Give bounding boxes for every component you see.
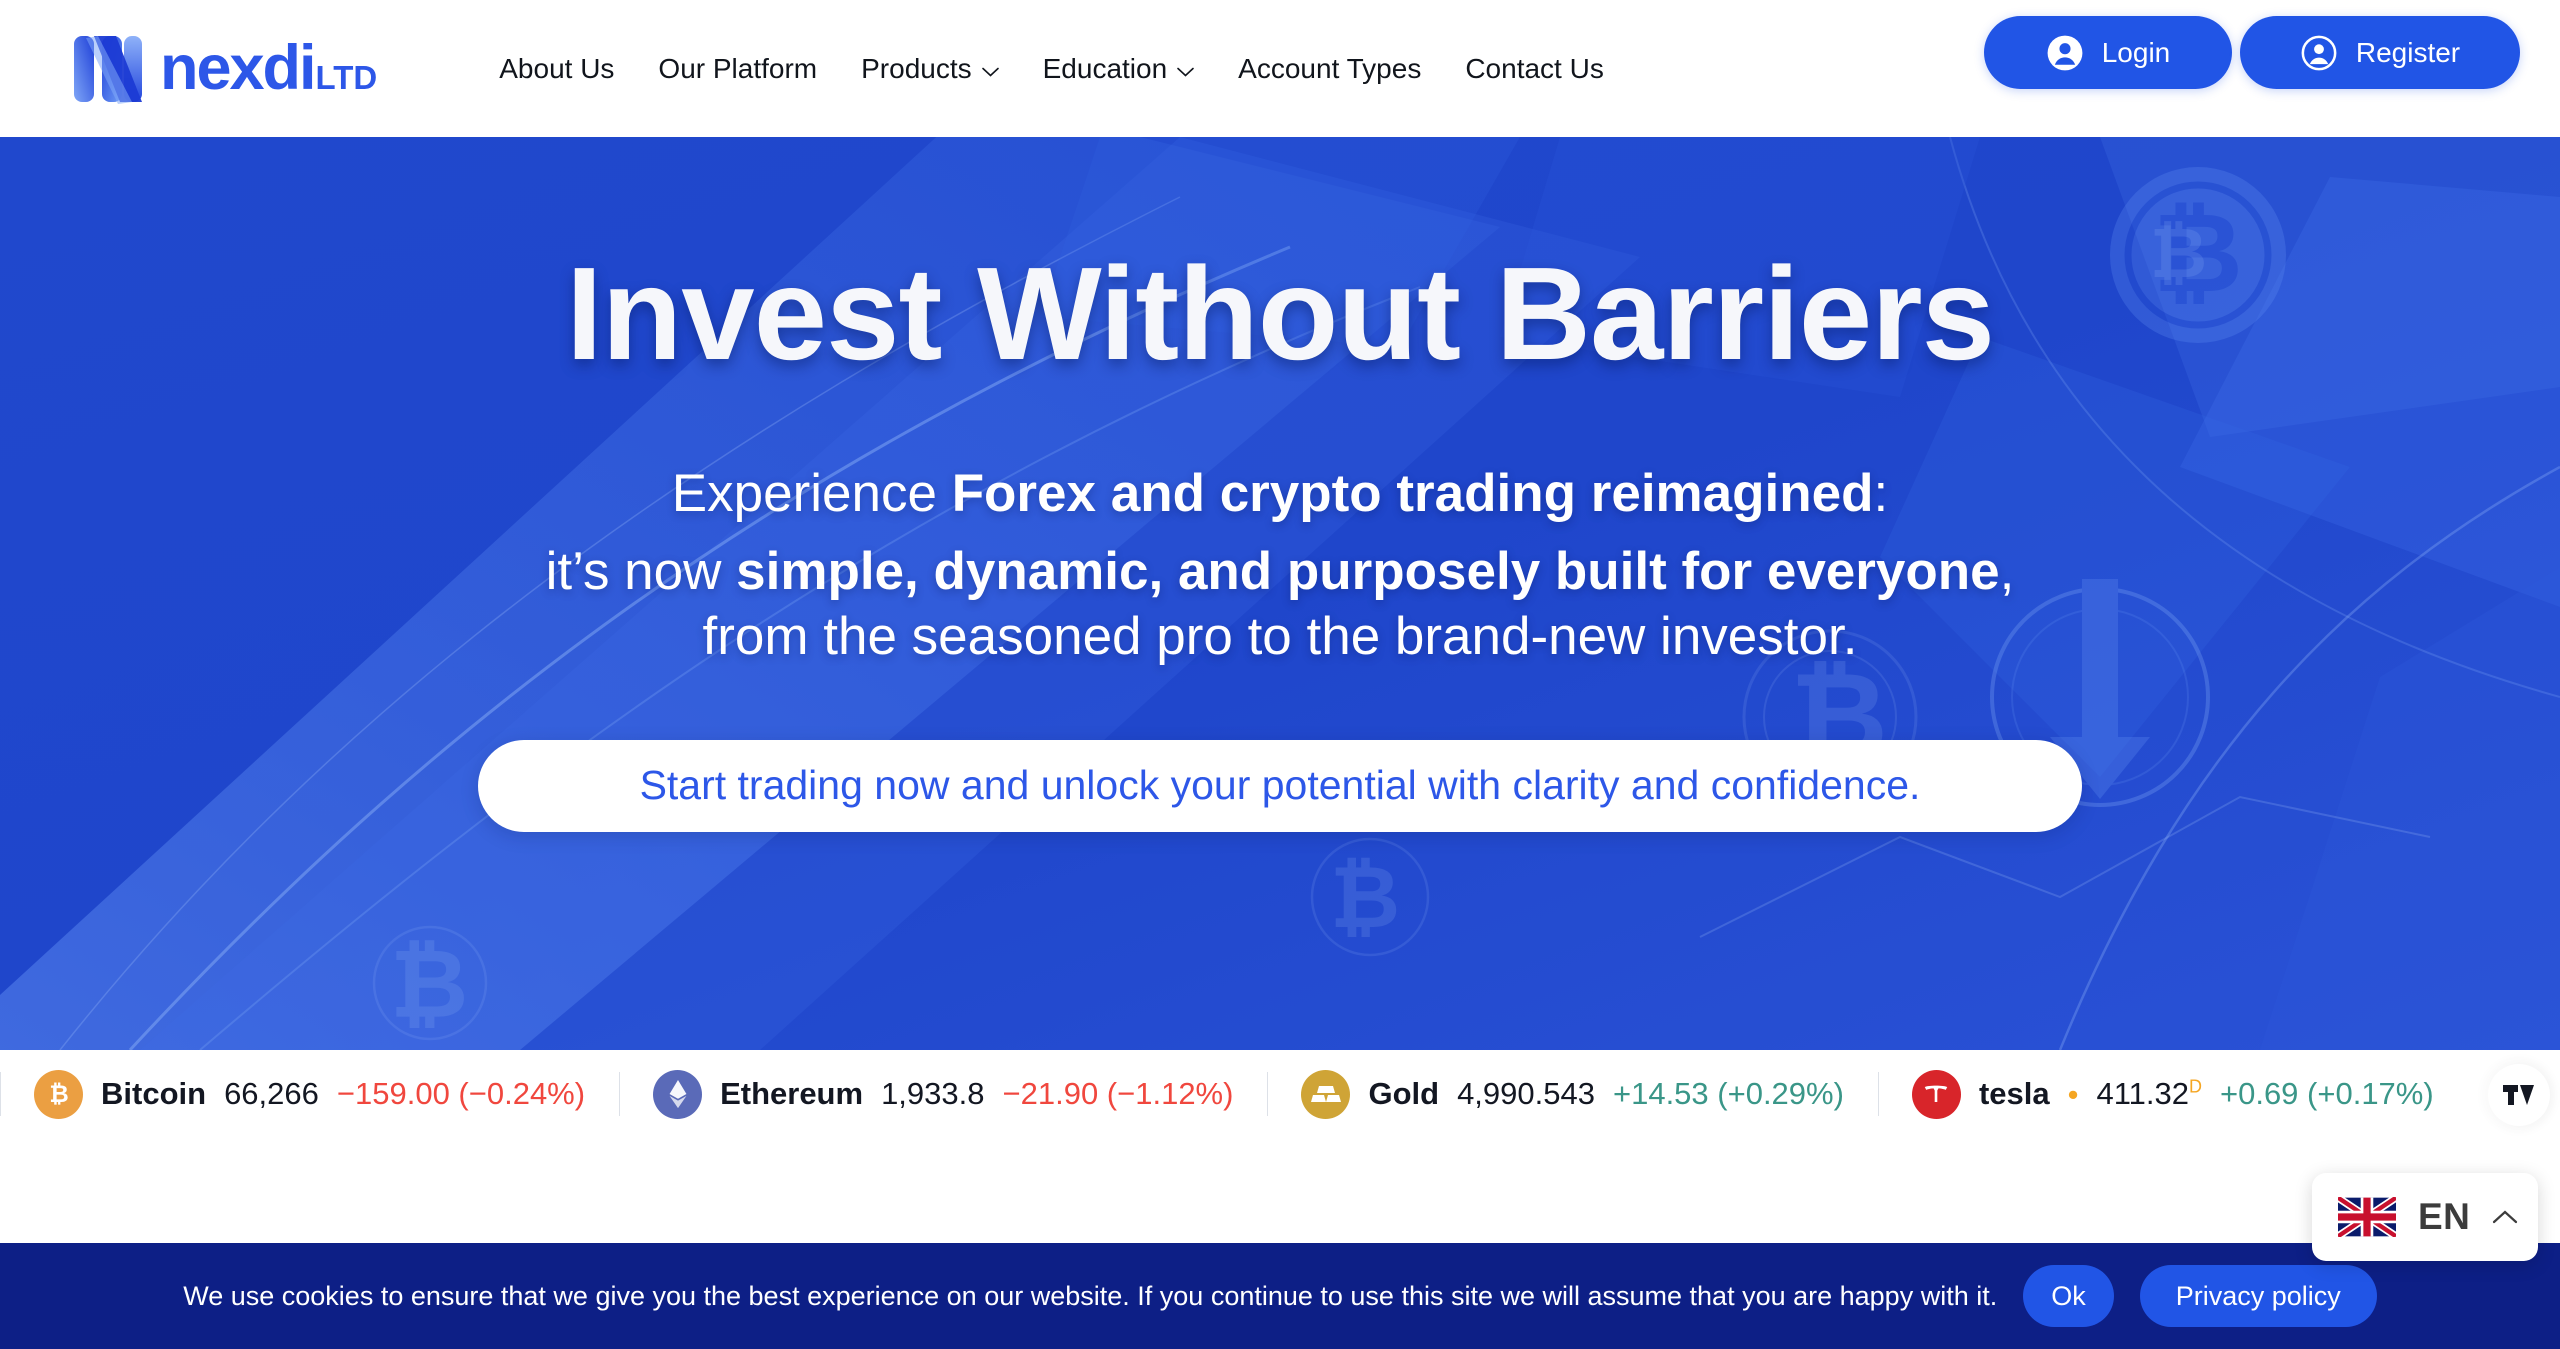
ticker-change: +14.53 (+0.29%) bbox=[1613, 1076, 1844, 1112]
site-header: nexdiLTD About Us Our Platform Products … bbox=[0, 0, 2560, 137]
nav-item-products[interactable]: Products bbox=[839, 53, 1021, 85]
hero-subtitle-line-1: Experience Forex and crypto trading reim… bbox=[672, 462, 1888, 527]
nav-item-account-types[interactable]: Account Types bbox=[1216, 53, 1443, 85]
ticker-item-bitcoin[interactable]: ₿ Bitcoin 66,266 −159.00 (−0.24%) bbox=[0, 1050, 619, 1138]
chevron-up-icon bbox=[2492, 1209, 2518, 1225]
start-trading-cta-button[interactable]: Start trading now and unlock your potent… bbox=[478, 740, 2082, 832]
hero-title: Invest Without Barriers bbox=[566, 245, 1994, 384]
bitcoin-icon: ₿ bbox=[34, 1070, 83, 1119]
hero-sub2-post: , bbox=[2000, 542, 2015, 601]
nav-label: Contact Us bbox=[1465, 53, 1604, 85]
nav-label: Account Types bbox=[1238, 53, 1421, 85]
ticker-item-ethereum[interactable]: Ethereum 1,933.8 −21.90 (−1.12%) bbox=[619, 1050, 1267, 1138]
register-label: Register bbox=[2356, 37, 2460, 69]
cookie-ok-button[interactable]: Ok bbox=[2023, 1265, 2114, 1327]
nav-item-education[interactable]: Education bbox=[1021, 53, 1217, 85]
hero-content: Invest Without Barriers Experience Forex… bbox=[0, 137, 2560, 1050]
ticker-name: Ethereum bbox=[720, 1076, 863, 1112]
ticker-change: +0.69 (+0.17%) bbox=[2220, 1076, 2434, 1112]
register-button[interactable]: Register bbox=[2240, 16, 2520, 89]
page-body-spacer bbox=[0, 1138, 2560, 1243]
ticker-price: 66,266 bbox=[224, 1076, 319, 1112]
hero-sub1-pre: Experience bbox=[672, 464, 952, 523]
ticker-status-dot: • bbox=[2068, 1079, 2079, 1110]
hero-sub2-pre: it’s now bbox=[546, 542, 737, 601]
chevron-down-icon bbox=[1177, 67, 1194, 77]
login-label: Login bbox=[2102, 37, 2171, 69]
tesla-icon bbox=[1912, 1070, 1961, 1119]
nav-item-contact-us[interactable]: Contact Us bbox=[1443, 53, 1626, 85]
ticker-change: −159.00 (−0.24%) bbox=[337, 1076, 585, 1112]
ticker-name: tesla bbox=[1979, 1076, 2050, 1112]
user-circle-outline-icon bbox=[2300, 34, 2338, 72]
chevron-down-icon bbox=[982, 67, 999, 77]
hero-sub1-bold: Forex and crypto trading reimagined bbox=[952, 464, 1874, 523]
language-code-label: EN bbox=[2418, 1196, 2470, 1238]
hero-sub1-post: : bbox=[1873, 464, 1888, 523]
user-circle-filled-icon bbox=[2046, 34, 2084, 72]
nav-item-our-platform[interactable]: Our Platform bbox=[636, 53, 839, 85]
ethereum-icon bbox=[653, 1070, 702, 1119]
nav-item-about-us[interactable]: About Us bbox=[477, 53, 636, 85]
ticker-name: Bitcoin bbox=[101, 1076, 206, 1112]
gold-bars-icon bbox=[1301, 1070, 1350, 1119]
cookie-privacy-policy-button[interactable]: Privacy policy bbox=[2140, 1265, 2377, 1327]
nav-label: Products bbox=[861, 53, 972, 85]
hero-sub2-bold: simple, dynamic, and purposely built for… bbox=[736, 542, 2000, 601]
login-button[interactable]: Login bbox=[1984, 16, 2232, 89]
cookie-message: We use cookies to ensure that we give yo… bbox=[183, 1281, 1997, 1312]
cta-label: Start trading now and unlock your potent… bbox=[640, 762, 1921, 809]
ticker-price: 411.32D bbox=[2096, 1076, 2202, 1112]
auth-buttons: Login Register bbox=[1984, 16, 2520, 89]
hero-section: ₿ ₿ ₿ ₿ ₿ In bbox=[0, 137, 2560, 1050]
tradingview-logo-icon[interactable] bbox=[2488, 1064, 2550, 1126]
uk-flag-icon bbox=[2338, 1197, 2396, 1237]
cookie-consent-banner: We use cookies to ensure that we give yo… bbox=[0, 1243, 2560, 1349]
nav-label: Our Platform bbox=[658, 53, 817, 85]
language-selector[interactable]: EN bbox=[2312, 1173, 2538, 1261]
ticker-price: 1,933.8 bbox=[881, 1076, 984, 1112]
main-nav: About Us Our Platform Products Education… bbox=[477, 53, 1626, 85]
hero-subtitle-line-2: it’s now simple, dynamic, and purposely … bbox=[546, 540, 2015, 669]
brand-wordmark: nexdiLTD bbox=[160, 37, 377, 100]
market-ticker-bar[interactable]: ₿ Bitcoin 66,266 −159.00 (−0.24%) Ethere… bbox=[0, 1050, 2560, 1138]
brand-logo[interactable]: nexdiLTD bbox=[72, 32, 377, 106]
ticker-price-value: 411.32 bbox=[2096, 1076, 2189, 1111]
ticker-item-tesla[interactable]: tesla • 411.32D +0.69 (+0.17%) bbox=[1878, 1050, 2468, 1138]
ticker-change: −21.90 (−1.12%) bbox=[1003, 1076, 1234, 1112]
ticker-item-gold[interactable]: Gold 4,990.543 +14.53 (+0.29%) bbox=[1267, 1050, 1877, 1138]
svg-text:₿: ₿ bbox=[49, 1081, 68, 1108]
hero-subtitle-line-3: from the seasoned pro to the brand-new i… bbox=[546, 605, 2015, 670]
nav-label: About Us bbox=[499, 53, 614, 85]
ticker-price: 4,990.543 bbox=[1457, 1076, 1595, 1112]
brand-name: nexdi bbox=[160, 37, 315, 100]
nexdi-n-logo-icon bbox=[72, 32, 144, 106]
ticker-price-suffix: D bbox=[2189, 1077, 2202, 1097]
brand-suffix: LTD bbox=[316, 61, 378, 94]
nav-label: Education bbox=[1043, 53, 1168, 85]
ticker-name: Gold bbox=[1368, 1076, 1439, 1112]
